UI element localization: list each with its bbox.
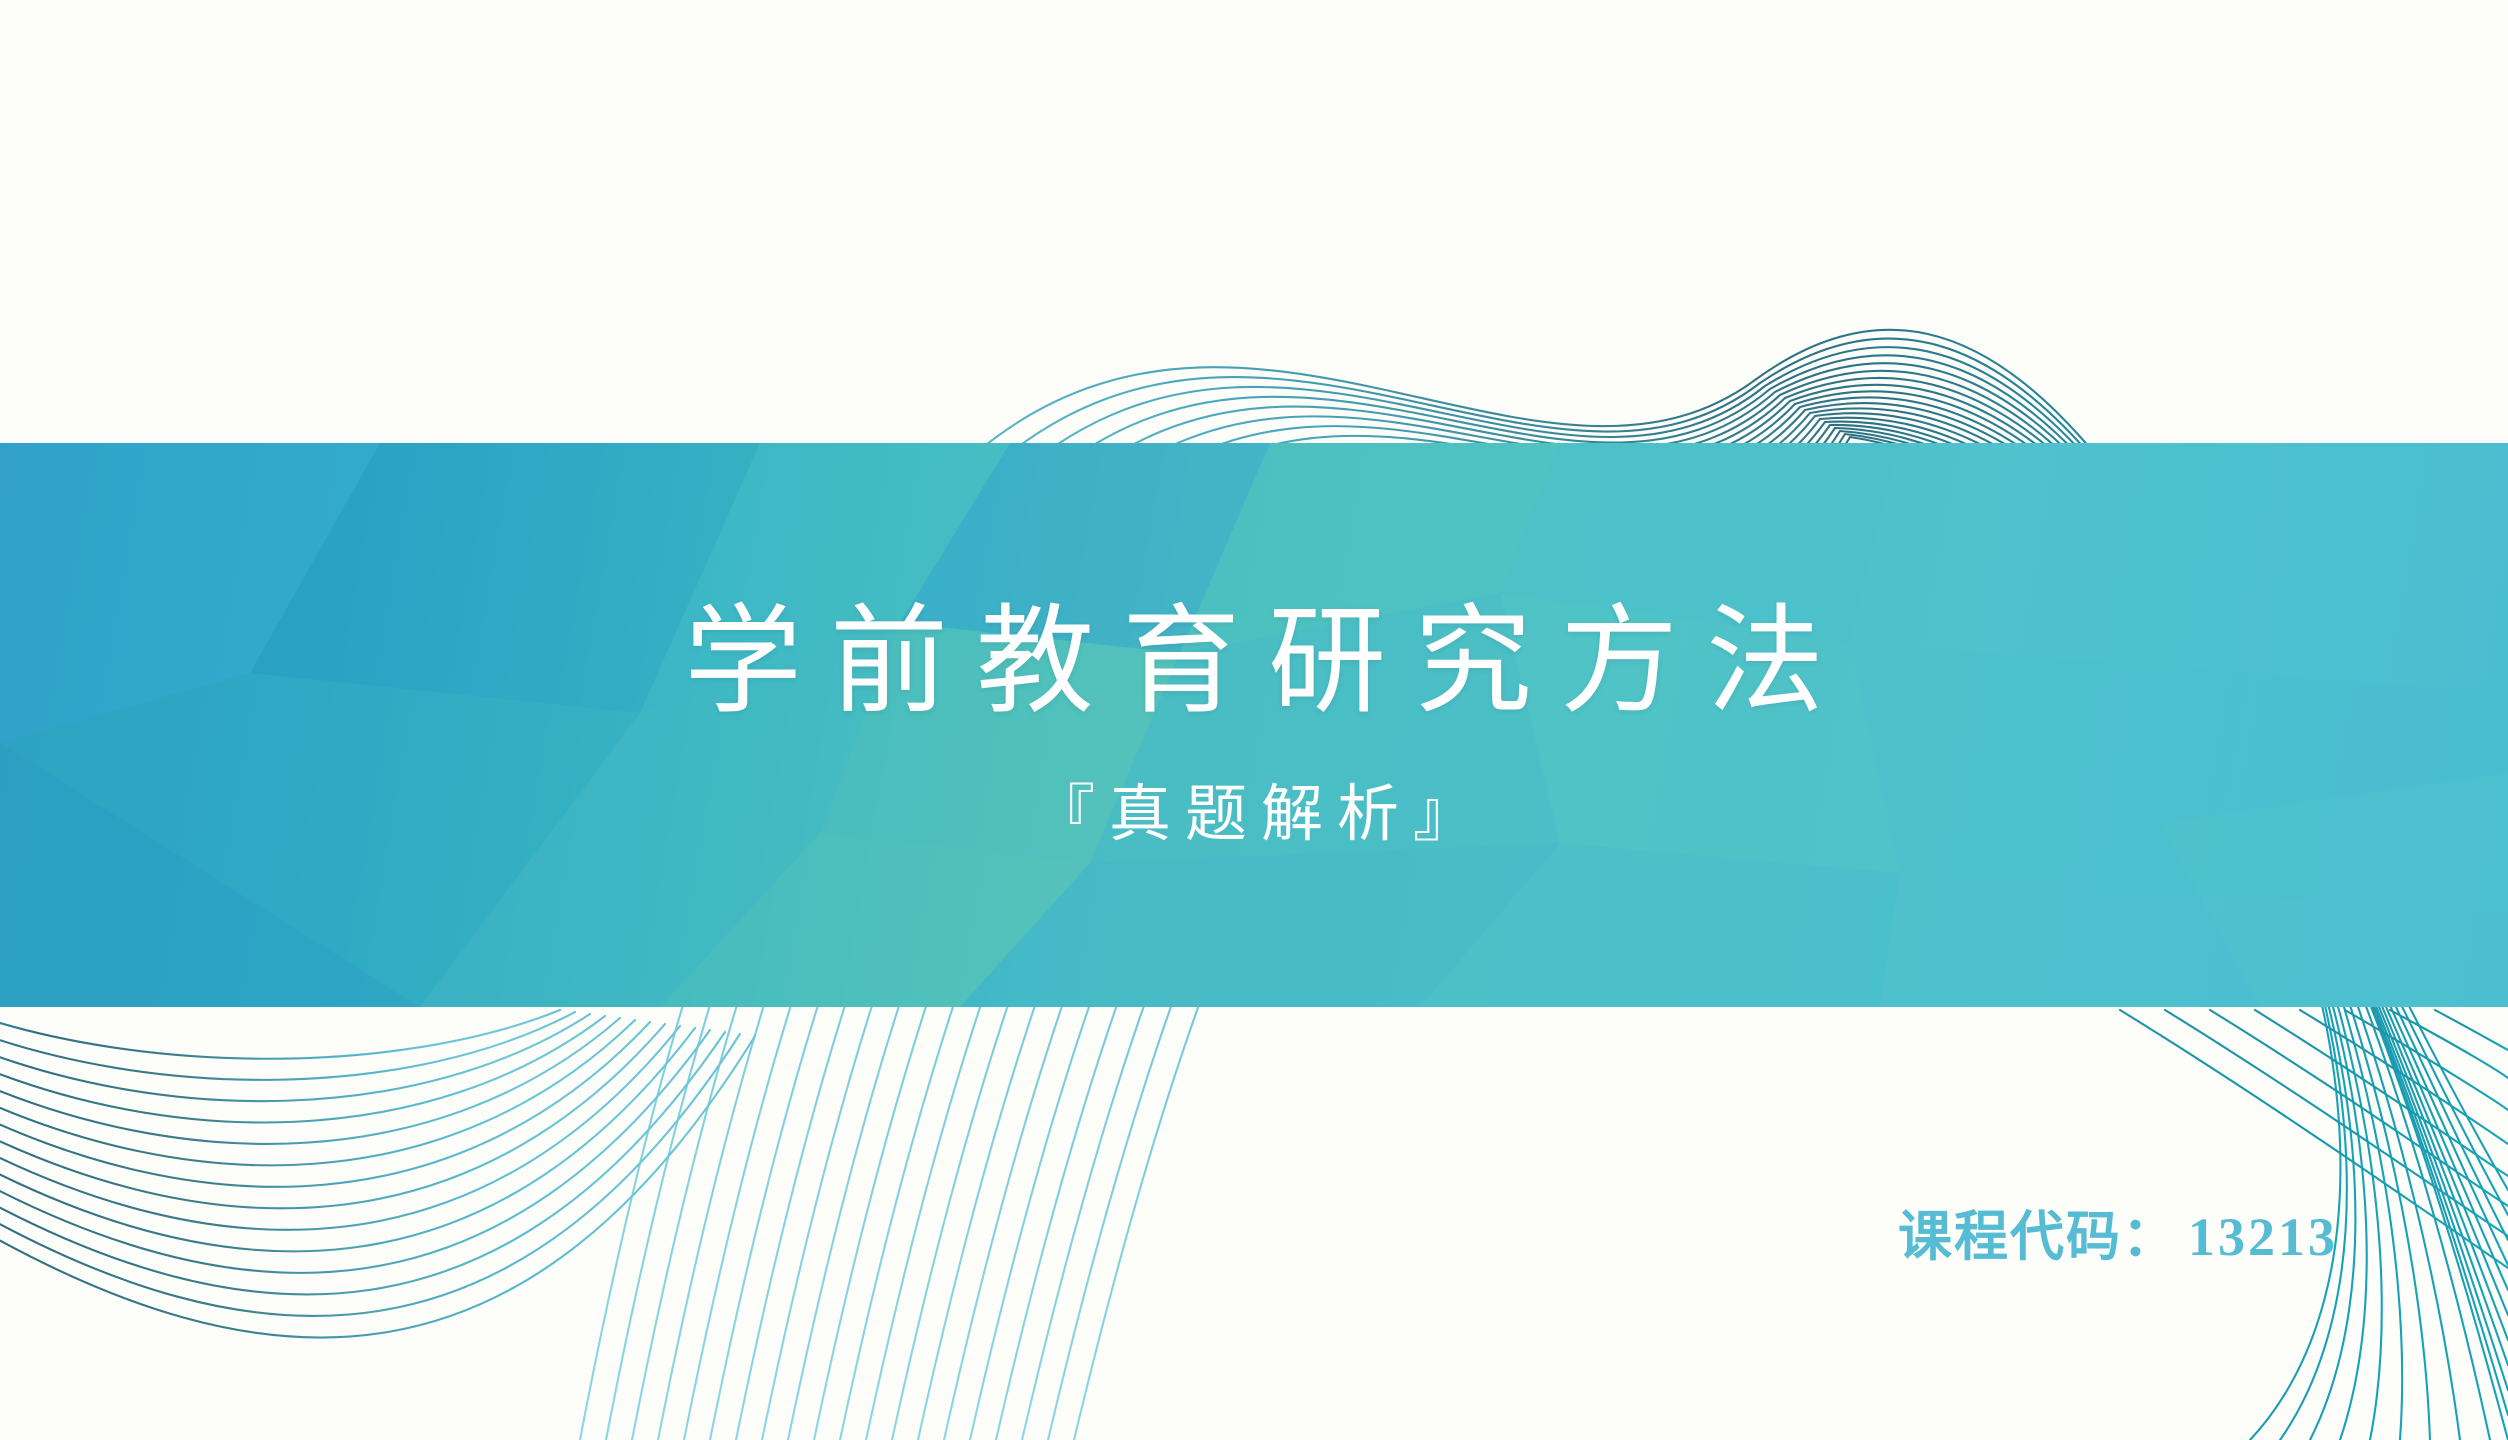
bottom-left-wave-lines [0,1010,755,1338]
page-subtitle: 『真题解析』 [1019,784,1489,846]
course-code-label: 课程代码： [1898,1207,2178,1267]
course-code-value: 13213 [2178,1207,2338,1267]
page-title: 学前教育研究方法 [656,604,1852,722]
course-code: 课程代码：13213 [1898,1210,2338,1264]
title-banner: 学前教育研究方法 『真题解析』 [0,443,2508,1007]
presentation-slide: 学前教育研究方法 『真题解析』 [0,0,2508,1440]
banner-text-block: 学前教育研究方法 『真题解析』 [0,443,2508,1007]
